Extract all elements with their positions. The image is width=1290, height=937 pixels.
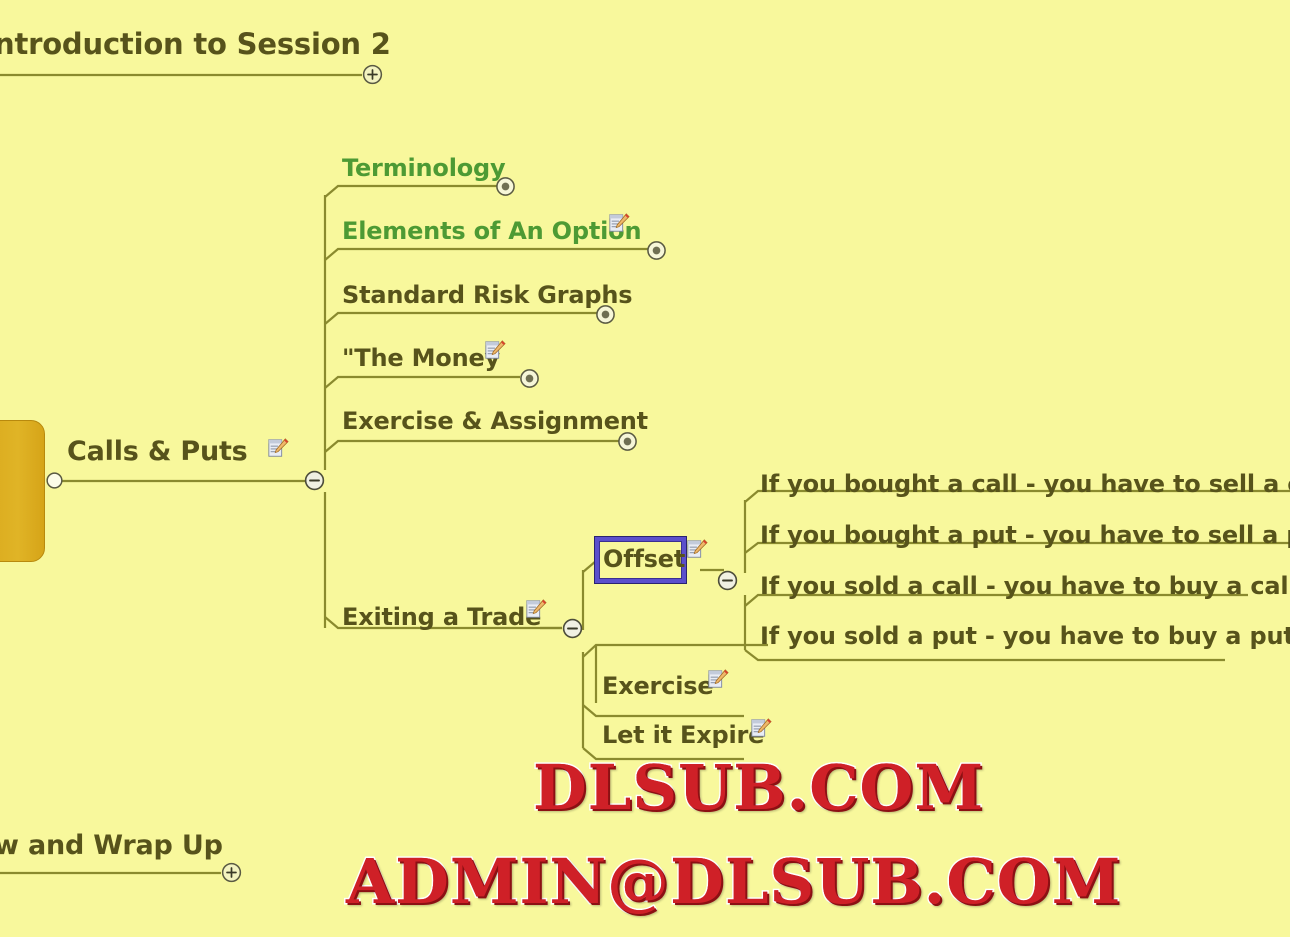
watermark-email: ADMIN@DLSUB.COM <box>346 845 1121 918</box>
node-label-elements-of-an-option[interactable]: Elements of An Option <box>342 219 641 243</box>
node-label-standard-risk-graphs[interactable]: Standard Risk Graphs <box>342 283 632 307</box>
expand-button-wrap-up[interactable] <box>221 862 242 883</box>
leaf-bullet-the-money[interactable] <box>519 368 540 389</box>
node-label-sold-put[interactable]: If you sold a put - you have to buy a pu… <box>760 624 1290 648</box>
node-label-exercise[interactable]: Exercise <box>602 674 713 698</box>
node-label-offset[interactable]: Offset <box>603 547 685 571</box>
node-label-bought-call[interactable]: If you bought a call - you have to sell … <box>760 472 1290 496</box>
node-label-exercise-and-assignment[interactable]: Exercise & Assignment <box>342 409 648 433</box>
collapse-button-exiting-a-trade[interactable] <box>562 618 583 639</box>
root-bullet[interactable] <box>45 471 64 490</box>
node-label-calls-puts[interactable]: Calls & Puts <box>67 438 248 465</box>
collapse-button-calls-puts[interactable] <box>304 470 325 491</box>
link-exercise-assign <box>325 441 619 452</box>
root-node[interactable] <box>0 420 45 562</box>
node-label-bought-put[interactable]: If you bought a put - you have to sell a… <box>760 523 1290 547</box>
note-icon[interactable] <box>750 717 772 739</box>
leaf-bullet-risk-graphs[interactable] <box>595 304 616 325</box>
expand-button-intro[interactable] <box>362 64 383 85</box>
note-icon[interactable] <box>525 598 547 620</box>
leaf-bullet-exercise-assignment[interactable] <box>617 431 638 452</box>
mindmap-canvas: ntroduction to Session 2 Calls & Puts Te… <box>0 0 1290 937</box>
note-icon[interactable] <box>707 668 729 690</box>
link-elements <box>325 249 648 260</box>
note-icon[interactable] <box>686 538 708 560</box>
node-label-let-it-expire[interactable]: Let it Expire <box>602 723 764 747</box>
leaf-bullet-terminology[interactable] <box>495 176 516 197</box>
collapse-button-offset[interactable] <box>717 570 738 591</box>
node-label-the-money[interactable]: "The Money <box>342 346 500 370</box>
link-exit-pad <box>583 645 768 657</box>
link-exercise <box>583 705 744 716</box>
node-label-exiting-a-trade[interactable]: Exiting a Trade <box>342 605 541 629</box>
watermark-site: DLSUB.COM <box>533 751 984 824</box>
link-themoney <box>325 377 520 388</box>
note-icon[interactable] <box>267 437 289 459</box>
note-icon[interactable] <box>484 339 506 361</box>
node-label-terminology[interactable]: Terminology <box>342 156 505 180</box>
node-label-intro[interactable]: ntroduction to Session 2 <box>0 30 391 59</box>
note-icon[interactable] <box>608 212 630 234</box>
leaf-bullet-elements[interactable] <box>646 240 667 261</box>
link-terminology <box>325 186 498 197</box>
node-label-wrap-up[interactable]: w and Wrap Up <box>0 832 223 859</box>
link-sold-put <box>745 650 1225 660</box>
node-label-sold-call[interactable]: If you sold a call - you have to buy a c… <box>760 574 1290 598</box>
link-riskgraphs <box>325 313 597 324</box>
